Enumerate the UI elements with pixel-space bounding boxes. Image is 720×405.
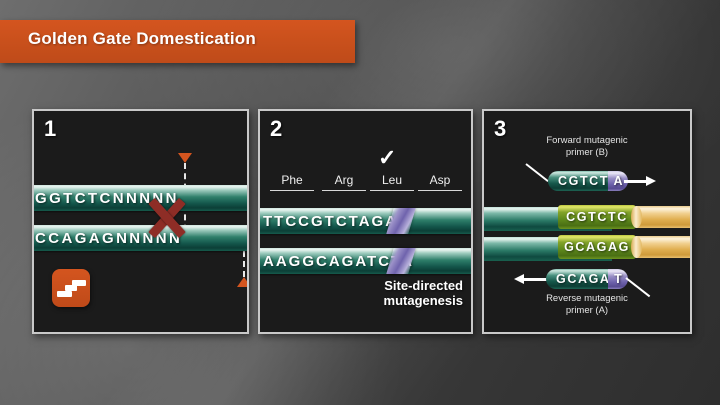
cut-site-triangle-top <box>178 153 192 163</box>
panel-2-caption: Site-directed mutagenesis <box>384 279 463 309</box>
dna-strand-top: TTCCGTCTAGAT <box>258 208 473 234</box>
vector-arm-bottom <box>636 236 692 258</box>
recognition-site-bottom-sequence: GCAGAG <box>558 235 636 259</box>
forward-primer-label-line-1: Forward mutagenic <box>484 135 690 147</box>
codon-label-1: Phe <box>270 173 314 191</box>
recognition-site-bottom: GCAGAG <box>558 235 636 259</box>
forward-primer-label: Forward mutagenic primer (B) <box>484 135 690 159</box>
golden-gate-assembly-icon <box>52 269 90 307</box>
panel-1-number: 1 <box>44 116 56 142</box>
recognition-site-top-sequence: CGTCTC <box>558 205 636 229</box>
dna-strand-bottom-bases: AAGGCAGATCTA <box>258 248 473 274</box>
codon-label-3-text: Leu <box>382 173 402 187</box>
caption-line-1: Site-directed <box>384 279 463 294</box>
dna-strand-top-bases: GGTCTCNNNNN <box>32 185 249 211</box>
panel-3: 3 Forward mutagenic primer (B) CGTCT A C… <box>482 109 692 334</box>
codon-label-3: Leu <box>370 173 414 191</box>
dna-strand-top: GGTCTCNNNNN <box>32 185 249 211</box>
dna-strand-top-bases: TTCCGTCTAGAT <box>258 208 473 234</box>
dna-strand-bottom-bases: CCAGAGNNNNN <box>32 225 249 251</box>
dna-strand-bottom: CCAGAGNNNNN <box>32 225 249 251</box>
codon-label-1-text: Phe <box>281 173 302 187</box>
reverse-primer-label: Reverse mutagenic primer (A) <box>484 293 690 317</box>
caption-line-2: mutagenesis <box>384 294 463 309</box>
title-banner: Golden Gate Domestication <box>0 20 355 63</box>
slide: Golden Gate Domestication 1 GGTCTCNNNNN … <box>0 0 720 405</box>
check-icon: ✓ <box>378 147 396 169</box>
forward-primer-label-line-2: primer (B) <box>484 147 690 159</box>
page-title: Golden Gate Domestication <box>28 29 256 49</box>
panel-2-number: 2 <box>270 116 282 142</box>
vector-arm-bottom-cap <box>631 236 642 258</box>
reverse-primer-label-line-2: primer (A) <box>484 305 690 317</box>
codon-label-2: Arg <box>322 173 366 191</box>
dna-strand-bottom: AAGGCAGATCTA <box>258 248 473 274</box>
forward-primer-leader-line <box>525 163 548 182</box>
cut-site-triangle-bottom <box>237 277 249 287</box>
forward-mutagenic-primer: CGTCT A <box>548 171 624 191</box>
recognition-site-top: CGTCTC <box>558 205 636 229</box>
vector-arm-top <box>636 206 692 228</box>
codon-label-2-text: Arg <box>335 173 354 187</box>
x-mark-icon <box>144 195 190 241</box>
codon-label-4: Asp <box>418 173 462 191</box>
reverse-primer-label-line-1: Reverse mutagenic <box>484 293 690 305</box>
vector-arm-top-cap <box>631 206 642 228</box>
forward-arrow-icon <box>624 176 656 186</box>
reverse-mutagenic-primer: GCAGA T <box>546 269 626 289</box>
codon-label-4-text: Asp <box>430 173 451 187</box>
panel-1: 1 GGTCTCNNNNN CCAGAGNNNNN <box>32 109 249 334</box>
reverse-arrow-icon <box>514 274 548 284</box>
panel-2: 2 ✓ Phe Arg Leu Asp TTCCGTCTAGAT AAGGCAG… <box>258 109 473 334</box>
